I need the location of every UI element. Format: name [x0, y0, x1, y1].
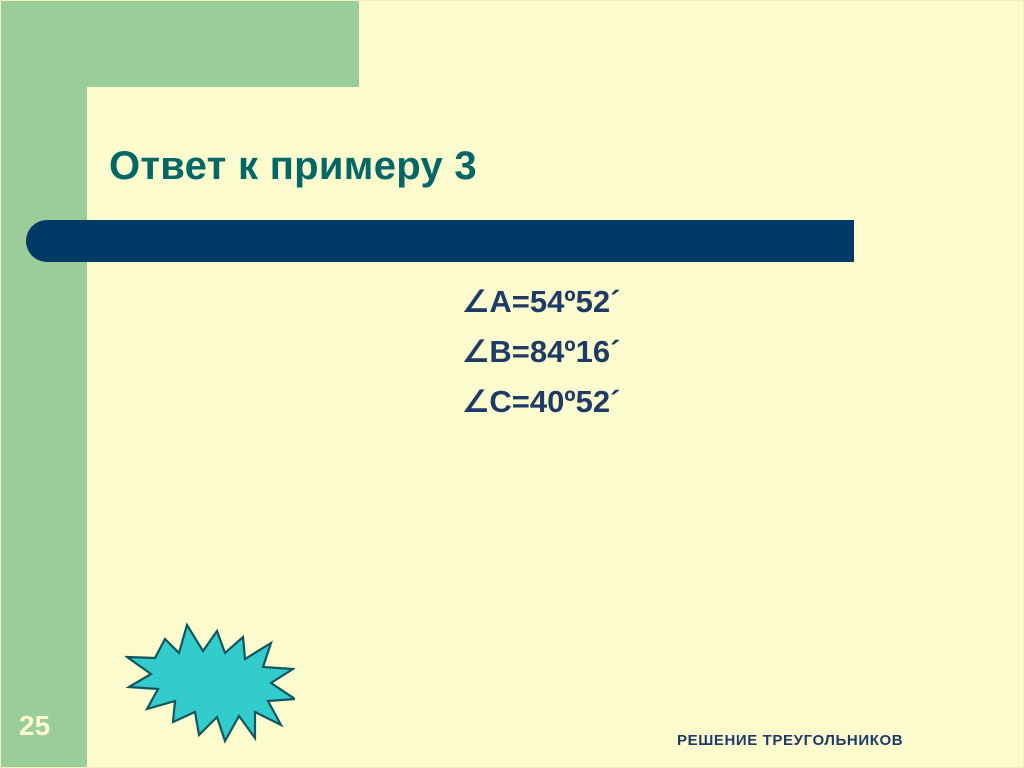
title-divider-bar: [26, 220, 854, 262]
footer-label: РЕШЕНИЕ ТРЕУГОЛЬНИКОВ: [677, 732, 903, 749]
presentation-slide: Ответ к примеру 3 ∠A=54º52´ ∠B=84º16´ ∠C…: [0, 0, 1024, 768]
page-title: Ответ к примеру 3: [109, 144, 939, 189]
green-left-strip: [1, 1, 87, 768]
list-item: ∠A=54º52´: [301, 277, 781, 327]
green-top-band: [1, 1, 359, 87]
explosion-star-icon: [125, 617, 295, 745]
list-item: ∠B=84º16´: [301, 327, 781, 377]
slide-number: 25: [19, 712, 50, 740]
list-item: ∠C=40º52´: [301, 377, 781, 427]
answer-list: ∠A=54º52´ ∠B=84º16´ ∠C=40º52´: [301, 277, 781, 428]
